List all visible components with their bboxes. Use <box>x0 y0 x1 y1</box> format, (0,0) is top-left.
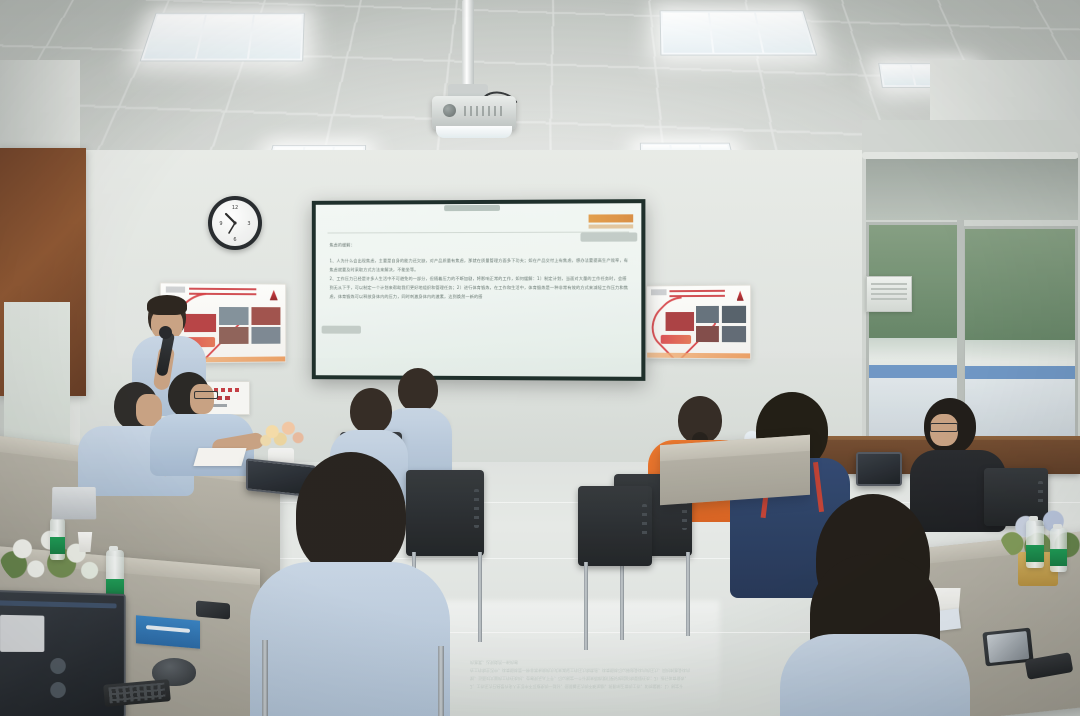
laptop-right-counter <box>856 452 902 486</box>
attendee-foreground-center-shirt <box>250 562 450 716</box>
projection-screen: 焦虑的缓解： 1、人为什么会出现焦虑，主要是自身的能力还欠缺，对产品质量有焦虑，… <box>312 199 646 381</box>
poster-center-photo-5 <box>722 326 746 342</box>
projection-screen-surface: 焦虑的缓解： 1、人为什么会出现焦虑，主要是自身的能力还欠缺，对产品质量有焦虑，… <box>316 203 642 377</box>
chair-orange-2[interactable] <box>578 486 652 566</box>
laptop-left-small <box>52 487 97 519</box>
poster-center-mark-icon <box>736 291 743 301</box>
clock-hands-icon: 123 69 <box>212 200 258 246</box>
slide-logo <box>589 214 634 222</box>
ceiling-light-2 <box>660 10 818 55</box>
water-bottle-front-1 <box>50 518 65 560</box>
bottle-label <box>50 537 65 554</box>
flower-arrangement-left <box>256 418 310 452</box>
laptop-icon-row-1 <box>50 658 66 674</box>
ac-vent-icon <box>871 283 907 303</box>
poster-left-photo-3 <box>251 308 280 325</box>
poster-center-wordmark <box>660 335 691 344</box>
attendee-foreground-center <box>250 452 450 716</box>
bottle-label-4 <box>1050 549 1067 566</box>
chair-foreground-leg-b <box>438 646 444 716</box>
poster-center-photo-4 <box>696 326 719 342</box>
poster-center-photo-2 <box>696 306 719 323</box>
slide-footer-badge <box>322 326 361 334</box>
projector-light-glow <box>436 126 512 138</box>
bottle-cap-icon-3 <box>1029 516 1038 521</box>
slide-paragraph-1: 1、人为什么会出现焦虑，主要是自身的能力还欠缺，对产品质量有焦虑，那就在质量管理… <box>329 256 629 274</box>
attendee-left-second-face <box>190 384 214 414</box>
bottle-label-3 <box>1026 545 1044 562</box>
notepad-left <box>193 448 246 466</box>
glasses-icon-right <box>930 423 958 432</box>
attendee-foreground-center-head <box>296 452 406 576</box>
poster-left-mark-icon <box>270 290 278 301</box>
water-bottle-right-2 <box>1050 528 1067 572</box>
meeting-room-photo: 123 69 <box>0 0 1080 716</box>
attendee-foreground-right <box>780 494 970 716</box>
clock-face: 123 69 <box>212 200 258 246</box>
presenter-hair <box>147 295 187 315</box>
ceiling-light-1 <box>140 13 305 62</box>
mobile-phone-left <box>196 601 230 620</box>
projector-lens-icon <box>443 104 456 117</box>
notebook-stripe <box>146 625 190 633</box>
projector-mount-pole <box>462 0 474 86</box>
air-conditioner-unit <box>866 276 912 312</box>
chair-foreground-leg-a <box>262 640 268 716</box>
floor-reflection-text: 2、工作压力已经是许多人生活中不可避免的一部分，但随着压力的不断加剧，将影响正常… <box>470 630 690 690</box>
svg-text:3: 3 <box>247 221 250 227</box>
slide-paragraph-2: 2、工作压力已经是许多人生活中不可避免的一部分，但随着压力的不断加剧，将影响正常… <box>329 274 629 301</box>
bottle-cap-icon-4 <box>1053 524 1062 529</box>
poster-center-photo-3 <box>722 306 746 323</box>
window-view-blue-trim <box>869 365 957 378</box>
svg-text:12: 12 <box>232 205 238 211</box>
bottle-cap-icon-2 <box>109 546 118 551</box>
laptop-icon-row-2 <box>50 682 66 698</box>
poster-center-logo <box>651 289 666 295</box>
poster-center-footer <box>647 353 750 359</box>
glasses-icon <box>194 391 218 399</box>
microphone-head-icon <box>159 326 172 339</box>
back-right-table <box>660 435 810 505</box>
poster-left-logo <box>166 287 185 293</box>
slide-text-body: 焦虑的缓解： 1、人为什么会出现焦虑，主要是自身的能力还欠缺，对产品质量有焦虑，… <box>329 240 629 302</box>
svg-text:9: 9 <box>219 221 222 227</box>
svg-text:6: 6 <box>233 237 236 243</box>
wall-clock: 123 69 <box>208 196 262 250</box>
window-view-hill-2 <box>965 229 1075 340</box>
slide-heading: 焦虑的缓解： <box>329 240 629 250</box>
chair-center-3-leg-b <box>478 552 482 642</box>
blue-notebook <box>136 615 200 649</box>
window-view-blue-trim-2 <box>965 366 1075 379</box>
phone-screen-glare <box>987 631 1030 663</box>
poster-center <box>646 285 751 360</box>
slide-app-toolbar <box>444 205 500 211</box>
laptop-taskbar <box>0 600 117 608</box>
water-bottle-right-1 <box>1026 520 1044 568</box>
window-roller-blind[interactable] <box>866 158 1078 220</box>
chair-orange-leg-b <box>686 552 690 636</box>
poster-center-photo-1 <box>665 312 694 331</box>
poster-left-photo-5 <box>251 327 280 344</box>
projector-vents <box>464 106 504 116</box>
laptop-desktop-window <box>0 615 44 652</box>
attendee-foreground-right-shirt <box>780 634 970 716</box>
attendee-center-2-head <box>350 388 392 434</box>
slide-logo-subtitle <box>589 224 634 228</box>
left-window-frame <box>0 148 86 396</box>
window-blind-rail[interactable] <box>862 152 1078 159</box>
chair-orange-2-leg <box>584 562 588 650</box>
